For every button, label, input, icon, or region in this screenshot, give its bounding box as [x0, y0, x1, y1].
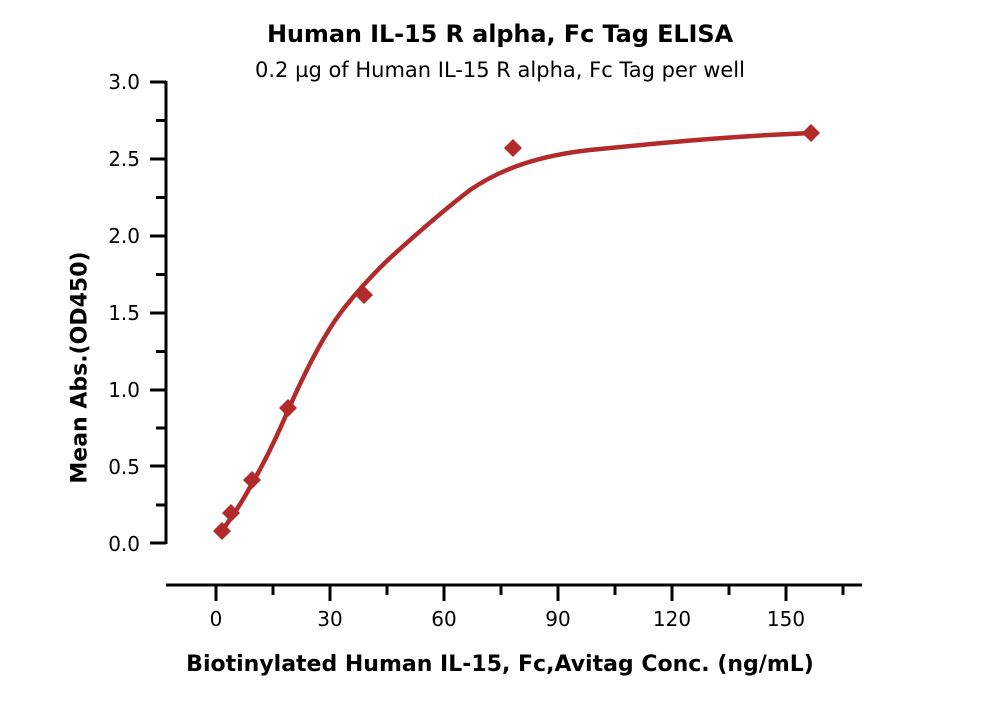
data-point-markers	[213, 124, 820, 540]
elisa-binding-chart: Human IL-15 R alpha, Fc Tag ELISA 0.2 µg…	[0, 0, 1000, 702]
data-point-6	[504, 139, 522, 157]
y-axis-major-ticks	[150, 82, 166, 543]
data-point-7	[802, 124, 820, 142]
plot-area-svg	[0, 0, 1000, 702]
fit-curve	[222, 133, 812, 531]
